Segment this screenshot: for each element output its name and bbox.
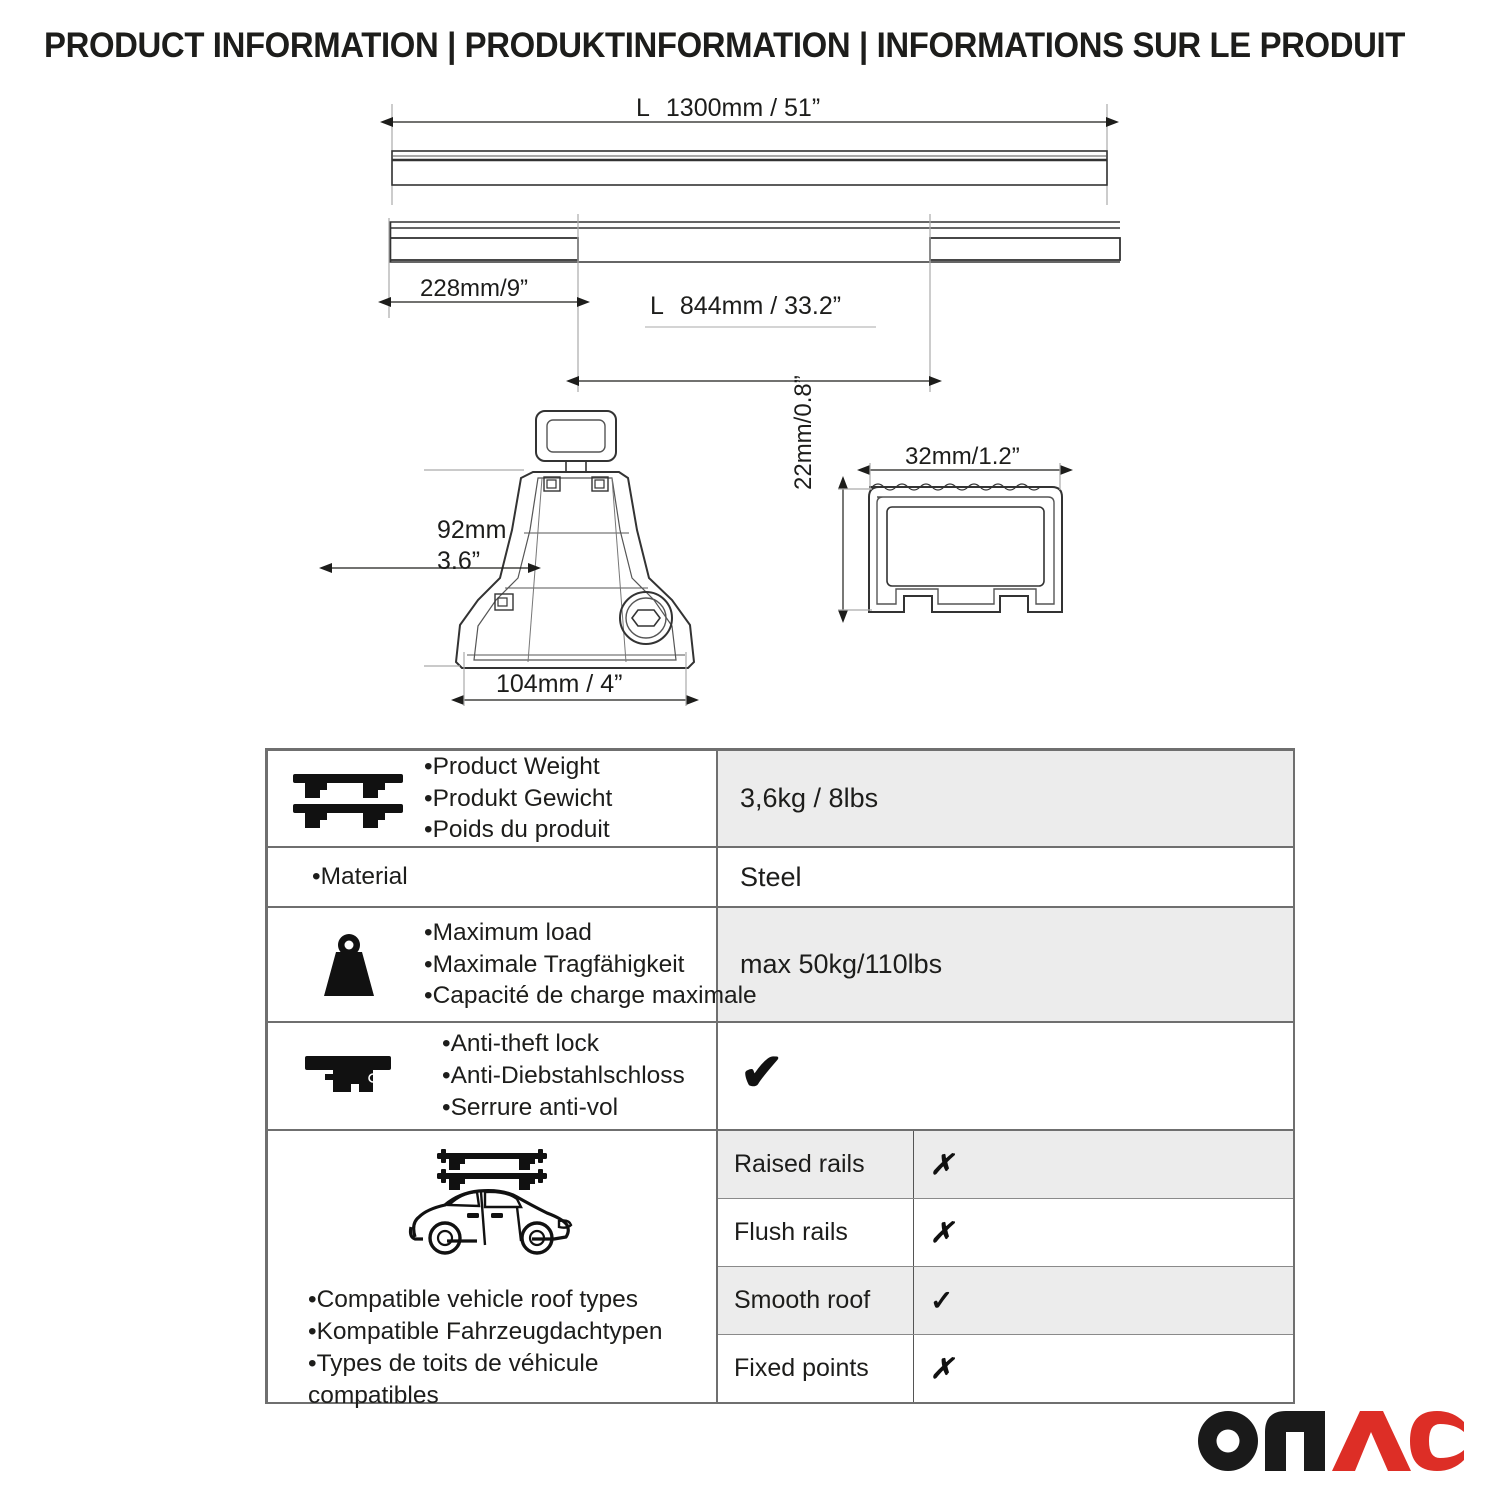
roof-type-row: Raised rails ✗ — [718, 1131, 1293, 1199]
omac-logo-mark — [1197, 1410, 1465, 1472]
spec-labels: •Maximum load •Maximale Tragfähigkeit •C… — [424, 917, 757, 1011]
table-row: •Product Weight •Produkt Gewicht •Poids … — [268, 751, 1293, 848]
table-row: •Anti-theft lock •Anti-Diebstahlschloss … — [268, 1023, 1293, 1131]
spec-label-cell: •Anti-theft lock •Anti-Diebstahlschloss … — [268, 1023, 718, 1129]
dimension-total-length-symbol: L — [636, 94, 650, 122]
compat-label-de: •Kompatible Fahrzeugdachtypen — [308, 1316, 663, 1348]
roof-type-name: Raised rails — [718, 1131, 914, 1198]
spec-label-cell: •Material — [268, 848, 718, 906]
technical-drawing: L1300mm / 51” 228mm/9” L844mm / 33.2” 92… — [0, 0, 1500, 745]
spec-value-cell: max 50kg/110lbs — [718, 908, 1293, 1021]
omac-logo — [1197, 1410, 1465, 1472]
dimension-profile-height: 22mm/0.8” — [790, 360, 818, 490]
roof-type-subtable: Raised rails ✗ Flush rails ✗ Smooth roof… — [718, 1131, 1293, 1402]
weight-icon — [274, 930, 424, 1000]
compat-label-en: •Compatible vehicle roof types — [308, 1284, 663, 1316]
dimension-total-length: L1300mm / 51” — [636, 94, 820, 123]
checkmark-icon: ✔ — [740, 1047, 784, 1099]
dimension-profile-width: 32mm/1.2” — [905, 443, 1020, 471]
table-row: •Compatible vehicle roof types •Kompatib… — [268, 1131, 1293, 1402]
roof-type-row: Fixed points ✗ — [718, 1335, 1293, 1402]
spec-labels: •Anti-theft lock •Anti-Diebstahlschloss … — [424, 1028, 685, 1124]
cross-icon: ✗ — [914, 1335, 1293, 1402]
roof-type-name: Smooth roof — [718, 1267, 914, 1334]
car-with-rack-icon — [397, 1145, 587, 1270]
spec-label-en: •Product Weight — [424, 751, 612, 783]
spec-label-fr: •Poids du produit — [424, 814, 612, 846]
lock-icon — [274, 1048, 424, 1104]
dimension-span: L844mm / 33.2” — [650, 292, 841, 321]
spec-value-cell: 3,6kg / 8lbs — [718, 751, 1293, 846]
dimension-foot-offset: 228mm/9” — [420, 275, 528, 303]
dimension-span-value: 844mm / 33.2” — [680, 292, 841, 320]
logo-letter-a — [1332, 1411, 1411, 1471]
compat-label-fr-cont: compatibles — [308, 1380, 663, 1412]
spec-label-en: •Anti-theft lock — [442, 1028, 685, 1060]
spec-label-cell: •Product Weight •Produkt Gewicht •Poids … — [268, 751, 718, 846]
spec-label-en: •Maximum load — [424, 917, 757, 948]
spec-value-cell: Steel — [718, 848, 1293, 906]
compat-label-fr: •Types de toits de véhicule — [308, 1348, 663, 1380]
compatibility-labels: •Compatible vehicle roof types •Kompatib… — [268, 1284, 663, 1411]
roof-type-row: Smooth roof ✓ — [718, 1267, 1293, 1335]
checkmark-icon: ✓ — [914, 1267, 1293, 1334]
spec-label-en: •Material — [312, 861, 408, 893]
dimension-span-symbol: L — [650, 292, 664, 320]
compatibility-label-cell: •Compatible vehicle roof types •Kompatib… — [268, 1131, 718, 1402]
spec-label-fr: •Capacité de charge maximale — [424, 980, 757, 1011]
spec-label-fr: •Serrure anti-vol — [442, 1092, 685, 1124]
spec-value-cell: ✔ — [718, 1023, 1293, 1129]
dimension-foot-height: 92mm 3.6” — [437, 515, 506, 578]
spec-label-cell: •Maximum load •Maximale Tragfähigkeit •C… — [268, 908, 718, 1021]
logo-letter-c — [1410, 1411, 1464, 1471]
roof-type-row: Flush rails ✗ — [718, 1199, 1293, 1267]
logo-letter-m — [1265, 1411, 1325, 1471]
spec-label-de: •Maximale Tragfähigkeit — [424, 949, 757, 980]
roof-type-name: Flush rails — [718, 1199, 914, 1266]
spec-labels: •Product Weight •Produkt Gewicht •Poids … — [424, 751, 612, 847]
dimension-total-length-value: 1300mm / 51” — [666, 94, 820, 122]
dimension-foot-height-mm: 92mm — [437, 515, 506, 546]
spec-labels: •Material — [274, 861, 408, 893]
table-row: •Maximum load •Maximale Tragfähigkeit •C… — [268, 908, 1293, 1023]
dimension-foot-width: 104mm / 4” — [496, 670, 622, 699]
cross-icon: ✗ — [914, 1131, 1293, 1198]
spec-label-de: •Produkt Gewicht — [424, 783, 612, 815]
roof-type-name: Fixed points — [718, 1335, 914, 1402]
cross-icon: ✗ — [914, 1199, 1293, 1266]
crossbars-icon — [274, 768, 424, 830]
table-row: •Material Steel — [268, 848, 1293, 908]
spec-label-de: •Anti-Diebstahlschloss — [442, 1060, 685, 1092]
specification-table: •Product Weight •Produkt Gewicht •Poids … — [265, 748, 1295, 1404]
dimension-foot-height-in: 3.6” — [437, 546, 506, 577]
